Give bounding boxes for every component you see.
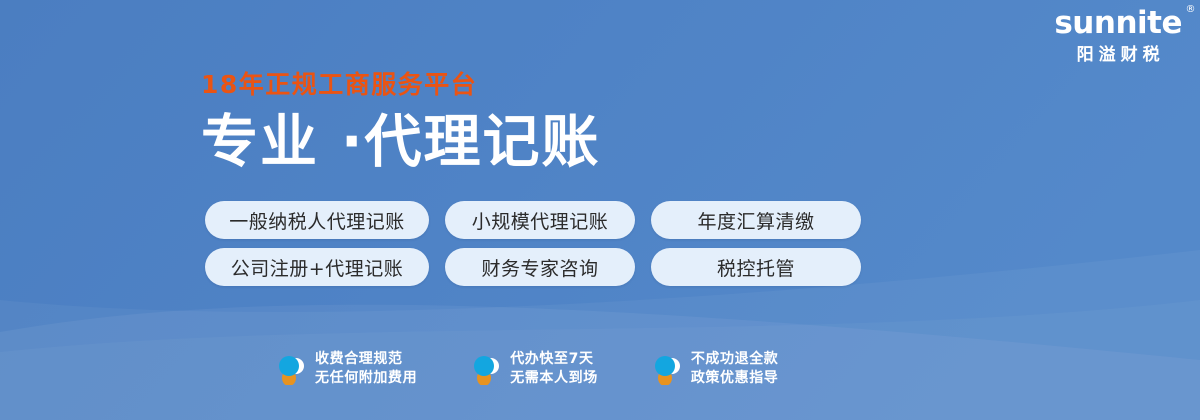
logo-wordmark-text: sunnite — [1054, 5, 1182, 41]
feature-item-guarantee: 不成功退全款 政策优惠指导 — [652, 350, 779, 388]
dual-circle-icon — [652, 353, 682, 385]
dual-circle-icon — [471, 353, 501, 385]
service-pill-expert-consulting[interactable]: 财务专家咨询 — [445, 248, 635, 286]
registered-trademark-icon: ® — [1186, 5, 1196, 15]
feature-text-pricing: 收费合理规范 无任何附加费用 — [315, 350, 417, 388]
feature-line-2: 无需本人到场 — [510, 369, 598, 388]
service-pill-row-2: 公司注册+代理记账 财务专家咨询 税控托管 — [205, 248, 861, 286]
dual-circle-icon — [276, 353, 306, 385]
brand-logo[interactable]: sunnite ® 阳溢财税 — [1054, 8, 1182, 63]
hero-headline: 专业 ·代理记账 — [201, 114, 601, 171]
feature-line-1: 收费合理规范 — [315, 350, 417, 369]
service-pill-company-registration[interactable]: 公司注册+代理记账 — [205, 248, 429, 286]
feature-line-1: 不成功退全款 — [691, 350, 779, 369]
feature-text-guarantee: 不成功退全款 政策优惠指导 — [691, 350, 779, 388]
service-pill-row-1: 一般纳税人代理记账 小规模代理记账 年度汇算清缴 — [205, 201, 861, 239]
logo-wordmark: sunnite ® — [1054, 8, 1182, 39]
service-pill-group: 一般纳税人代理记账 小规模代理记账 年度汇算清缴 公司注册+代理记账 财务专家咨… — [205, 201, 861, 295]
service-pill-general-taxpayer[interactable]: 一般纳税人代理记账 — [205, 201, 429, 239]
promo-banner: sunnite ® 阳溢财税 18年正规工商服务平台 专业 ·代理记账 一般纳税… — [0, 0, 1200, 420]
feature-list: 收费合理规范 无任何附加费用 代办快至7天 无需本人到场 — [276, 350, 778, 388]
feature-item-speed: 代办快至7天 无需本人到场 — [471, 350, 598, 388]
feature-line-2: 政策优惠指导 — [691, 369, 779, 388]
hero-text-block: 18年正规工商服务平台 专业 ·代理记账 — [201, 72, 601, 171]
logo-chinese-name: 阳溢财税 — [1054, 46, 1182, 63]
feature-line-2: 无任何附加费用 — [315, 369, 417, 388]
feature-text-speed: 代办快至7天 无需本人到场 — [510, 350, 598, 388]
service-pill-small-scale[interactable]: 小规模代理记账 — [445, 201, 635, 239]
hero-eyebrow: 18年正规工商服务平台 — [201, 72, 601, 97]
service-pill-tax-control-hosting[interactable]: 税控托管 — [651, 248, 861, 286]
feature-line-1: 代办快至7天 — [510, 350, 598, 369]
service-pill-annual-settlement[interactable]: 年度汇算清缴 — [651, 201, 861, 239]
feature-item-pricing: 收费合理规范 无任何附加费用 — [276, 350, 417, 388]
